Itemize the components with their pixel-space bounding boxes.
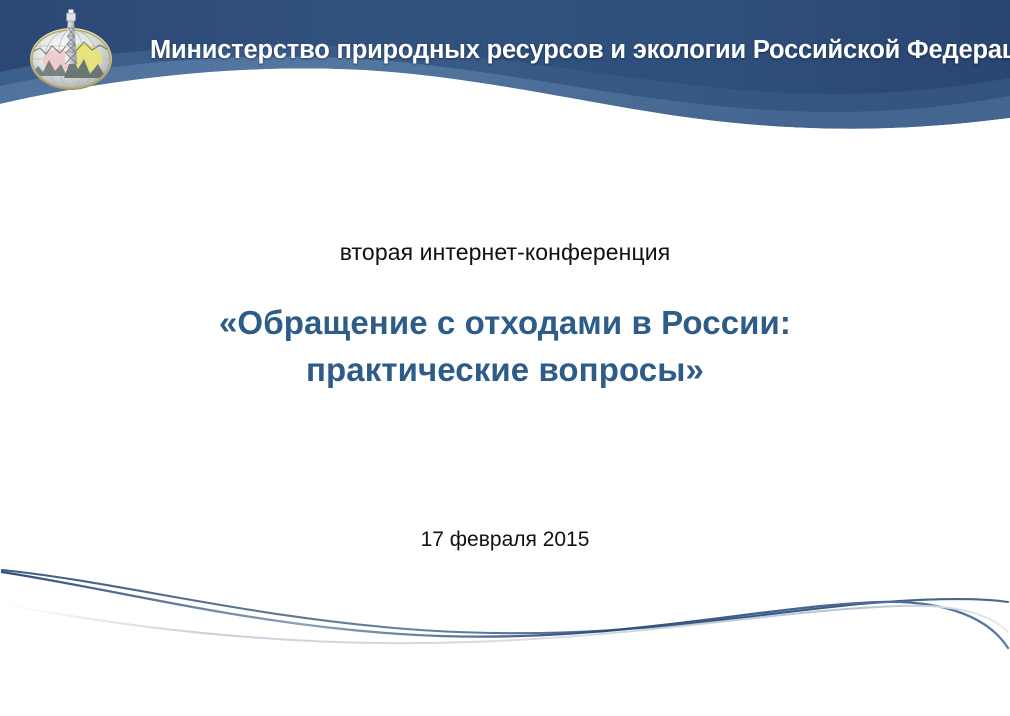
ministry-emblem-logo xyxy=(22,4,120,96)
footer-curve-2 xyxy=(2,572,1008,648)
slide-main-title: «Обращение с отходами в России: практиче… xyxy=(0,300,1010,394)
slide-header-banner: Министерство природных ресурсов и эколог… xyxy=(0,0,1010,160)
globe-derrick-icon xyxy=(22,4,120,96)
footer-curve-1 xyxy=(2,570,1008,633)
footer-decorative-curves xyxy=(0,556,1010,716)
main-title-line-2: практические вопросы» xyxy=(0,347,1010,394)
presentation-title-slide: Министерство природных ресурсов и эколог… xyxy=(0,0,1010,716)
main-title-line-1: «Обращение с отходами в России: xyxy=(0,300,1010,347)
event-date: 17 февраля 2015 xyxy=(0,528,1010,552)
header-wave-graphic xyxy=(0,0,1010,160)
footer-wave-lines xyxy=(0,556,1010,716)
conference-subtitle: вторая интернет-конференция xyxy=(0,239,1010,266)
ministry-title: Министерство природных ресурсов и эколог… xyxy=(150,36,1000,64)
